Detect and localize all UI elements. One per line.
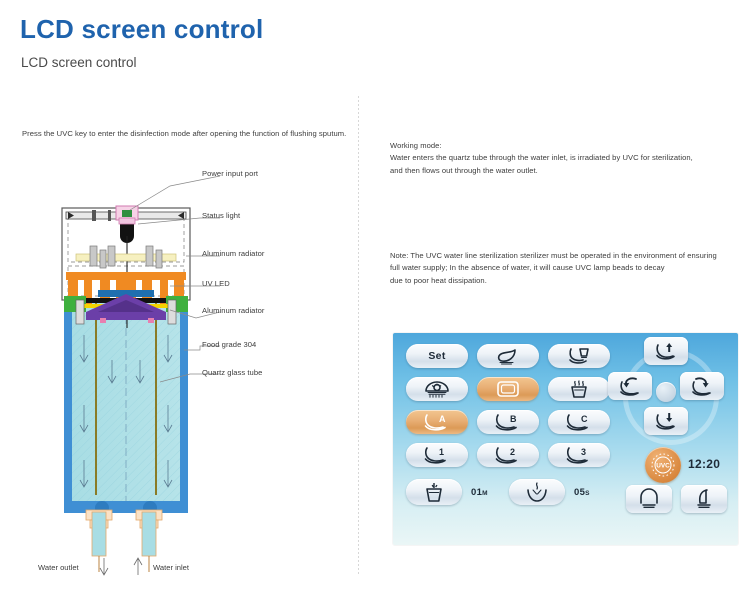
cup-fill-time-value: 01M — [471, 487, 488, 498]
working-mode-text: Working mode: Water enters the quartz tu… — [390, 140, 720, 177]
callout-quartz-glass-tube: Quartz glass tube — [202, 368, 262, 377]
set-button-label: Set — [428, 350, 445, 362]
svg-text:B: B — [510, 414, 517, 424]
svg-text:2: 2 — [510, 447, 515, 457]
bowl-flush-time-number: 05 — [574, 487, 585, 498]
chair-memory-2-button[interactable]: 2 — [477, 443, 539, 467]
chair-rotate-right-icon — [688, 376, 716, 396]
chair-letter-icon: C — [562, 413, 596, 432]
page-title: LCD screen control — [20, 14, 263, 45]
sterilizer-cross-section-diagram: Power input port Status light Aluminum r… — [20, 160, 355, 580]
rinse-bowl-button[interactable] — [477, 344, 539, 368]
chair-preset-b-button[interactable]: B — [477, 410, 539, 434]
page-subtitle: LCD screen control — [21, 55, 137, 70]
set-button[interactable]: Set — [406, 344, 468, 368]
chair-rotate-left-icon — [616, 376, 644, 396]
chair-preset-c-button[interactable]: C — [548, 410, 610, 434]
bowl-flush-button[interactable] — [509, 479, 565, 505]
cup-fill-time-number: 01 — [471, 487, 482, 498]
note-text: Note: The UVC water line sterilization s… — [390, 250, 720, 287]
svg-text:1: 1 — [439, 447, 444, 457]
chair-back-recline-button[interactable] — [608, 372, 652, 400]
arc-lines-icon — [636, 488, 662, 510]
operating-light-button[interactable] — [406, 377, 468, 401]
chair-down-button[interactable] — [644, 407, 688, 435]
callout-power-input-port: Power input port — [202, 169, 258, 178]
column-divider — [358, 96, 359, 574]
lcd-control-panel[interactable]: Set — [393, 333, 738, 545]
nozzle-lines-icon — [693, 488, 715, 510]
note-line-1: Note: The UVC water line sterilization s… — [390, 250, 720, 262]
callout-status-light: Status light — [202, 211, 240, 220]
note-line-2: full water supply; In the absence of wat… — [390, 262, 720, 274]
cup-fill-time-unit: M — [482, 490, 488, 497]
label-water-outlet: Water outlet — [38, 563, 79, 572]
bowl-flush-time-value: 05S — [574, 487, 590, 498]
chair-rinse-button[interactable] — [548, 344, 610, 368]
svg-text:A: A — [439, 414, 446, 424]
callout-aluminum-radiator-top: Aluminum radiator — [202, 249, 264, 258]
chair-arrow-down-icon — [652, 411, 680, 431]
page-root: LCD screen control LCD screen control Pr… — [0, 0, 750, 603]
syringe-water-button[interactable] — [681, 485, 727, 513]
bowl-flush-time-unit: S — [585, 490, 590, 497]
chair-letter-icon: 2 — [491, 446, 525, 465]
chair-arrow-up-icon — [652, 341, 680, 361]
clock-display: 12:20 — [688, 457, 720, 471]
viewer-screen-icon — [496, 380, 520, 398]
chair-letter-icon: B — [491, 413, 525, 432]
working-mode-line-1: Water enters the quartz tube through the… — [390, 152, 720, 164]
chair-preset-a-button[interactable]: A — [406, 410, 468, 434]
svg-text:C: C — [581, 414, 588, 424]
svg-text:UVC: UVC — [656, 463, 670, 470]
cup-fill-button[interactable] — [406, 479, 462, 505]
bowl-swirl-icon — [495, 347, 521, 365]
film-viewer-button[interactable] — [477, 377, 539, 401]
note-line-3: due to poor heat dissipation. — [390, 275, 720, 287]
chair-letter-icon: 1 — [420, 446, 454, 465]
cup-fill-icon — [423, 482, 445, 503]
dental-lamp-icon — [423, 380, 451, 398]
chair-back-raise-button[interactable] — [680, 372, 724, 400]
callout-aluminum-radiator-lower: Aluminum radiator — [202, 306, 264, 315]
chair-memory-1-button[interactable]: 1 — [406, 443, 468, 467]
uvc-disinfection-icon: UVC — [648, 450, 678, 480]
chair-cup-icon — [565, 347, 593, 365]
uvc-badge[interactable]: UVC — [645, 447, 681, 483]
chair-letter-icon: A — [420, 413, 454, 432]
svg-text:3: 3 — [581, 447, 586, 457]
uvc-instruction-caption: Press the UVC key to enter the disinfect… — [22, 128, 352, 139]
dpad-center-button[interactable] — [656, 382, 676, 402]
handpiece-water-button[interactable] — [626, 485, 672, 513]
callout-food-grade-304: Food grade 304 — [202, 340, 256, 349]
chair-letter-icon: 3 — [562, 446, 596, 465]
working-mode-heading: Working mode: — [390, 140, 720, 152]
chair-memory-3-button[interactable]: 3 — [548, 443, 610, 467]
chair-up-button[interactable] — [644, 337, 688, 365]
cup-steam-icon — [568, 380, 590, 399]
cup-warm-water-button[interactable] — [548, 377, 610, 401]
callout-uv-led: UV LED — [202, 279, 230, 288]
label-water-inlet: Water inlet — [153, 563, 189, 572]
working-mode-line-2: and then flows out through the water out… — [390, 165, 720, 177]
bowl-flush-icon — [524, 482, 550, 503]
